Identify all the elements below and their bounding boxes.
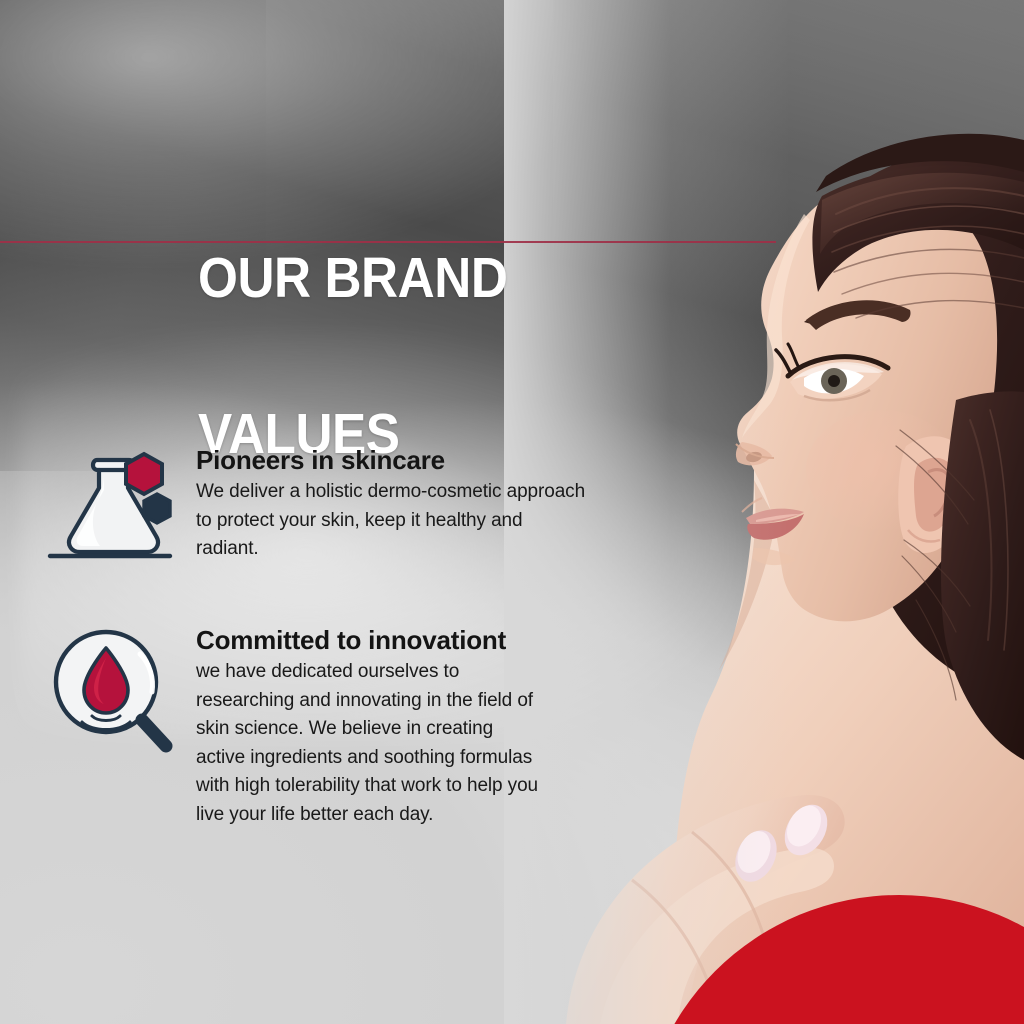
red-horizontal-rule bbox=[0, 241, 776, 243]
magnifier-droplet-icon bbox=[48, 624, 180, 760]
value-title: Committed to innovationt bbox=[196, 624, 546, 656]
lab-flask-icon bbox=[44, 444, 176, 568]
value-item-pioneers: Pioneers in skincare We deliver a holist… bbox=[196, 444, 588, 564]
page-title-line-1: OUR BRAND bbox=[198, 252, 507, 304]
poster-canvas: OUR BRAND VALUES bbox=[0, 0, 1024, 1024]
value-title: Pioneers in skincare bbox=[196, 444, 588, 476]
value-body: we have dedicated ourselves to researchi… bbox=[196, 658, 546, 829]
value-body: We deliver a holistic dermo-cosmetic app… bbox=[196, 478, 588, 564]
value-item-innovation: Committed to innovationt we have dedicat… bbox=[196, 624, 546, 829]
